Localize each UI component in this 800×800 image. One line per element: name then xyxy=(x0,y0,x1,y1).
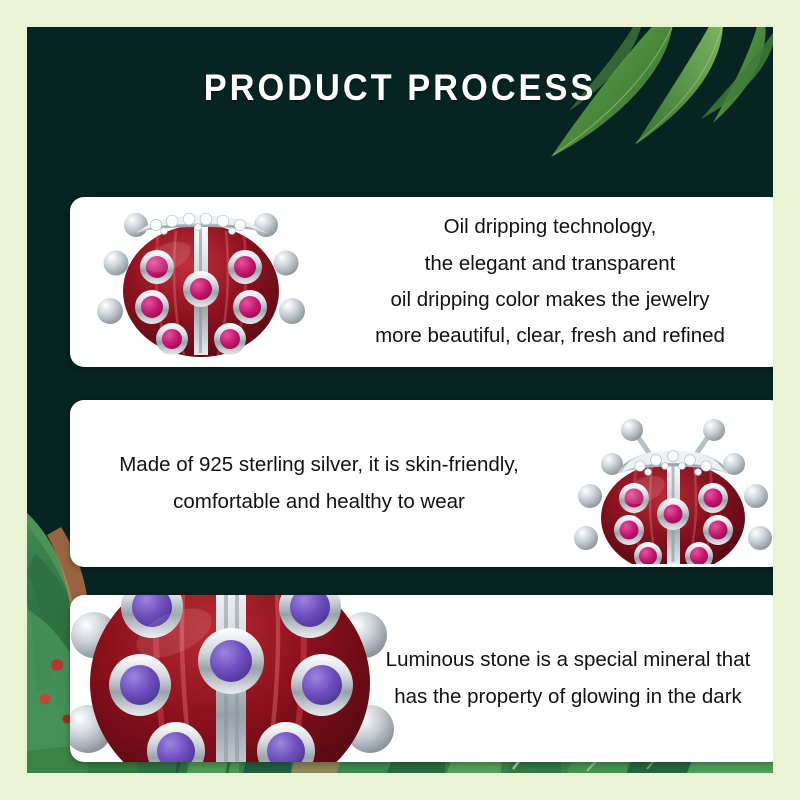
process-card-oil-dripping[interactable]: Oil dripping technology, the elegant and… xyxy=(70,197,773,367)
card-3-text: Luminous stone is a special mineral that… xyxy=(360,595,773,762)
card-2-text: Made of 925 sterling silver, it is skin-… xyxy=(70,447,556,520)
card-1-text: Oil dripping technology, the elegant and… xyxy=(332,209,773,355)
card-2-line-2: comfortable and healthy to wear xyxy=(92,484,546,520)
process-card-luminous-stone[interactable]: Luminous stone is a special mineral that… xyxy=(70,595,773,762)
product-image-3 xyxy=(70,595,360,762)
card-1-line-1: Oil dripping technology, xyxy=(332,209,768,245)
card-3-line-2: has the property of glowing in the dark xyxy=(366,679,770,715)
ladybug-charm-closeup-icon xyxy=(70,595,404,762)
ladybug-charm-icon xyxy=(94,205,308,361)
card-1-line-2: the elegant and transparent xyxy=(332,246,768,282)
product-image-1 xyxy=(70,197,332,367)
process-card-sterling-silver[interactable]: Made of 925 sterling silver, it is skin-… xyxy=(70,400,773,567)
card-2-line-1: Made of 925 sterling silver, it is skin-… xyxy=(92,447,546,483)
page-title: PRODUCT PROCESS xyxy=(53,67,747,109)
card-3-line-1: Luminous stone is a special mineral that xyxy=(366,642,770,678)
card-1-line-4: more beautiful, clear, fresh and refined xyxy=(332,318,768,354)
infographic-page: PRODUCT PROCESS xyxy=(0,0,800,800)
dark-panel: PRODUCT PROCESS xyxy=(27,27,773,773)
product-image-2 xyxy=(556,400,773,567)
bamboo-leaves-decoration xyxy=(473,27,773,217)
ladybug-charm-antennae-icon xyxy=(570,414,773,564)
card-1-line-3: oil dripping color makes the jewelry xyxy=(332,282,768,318)
